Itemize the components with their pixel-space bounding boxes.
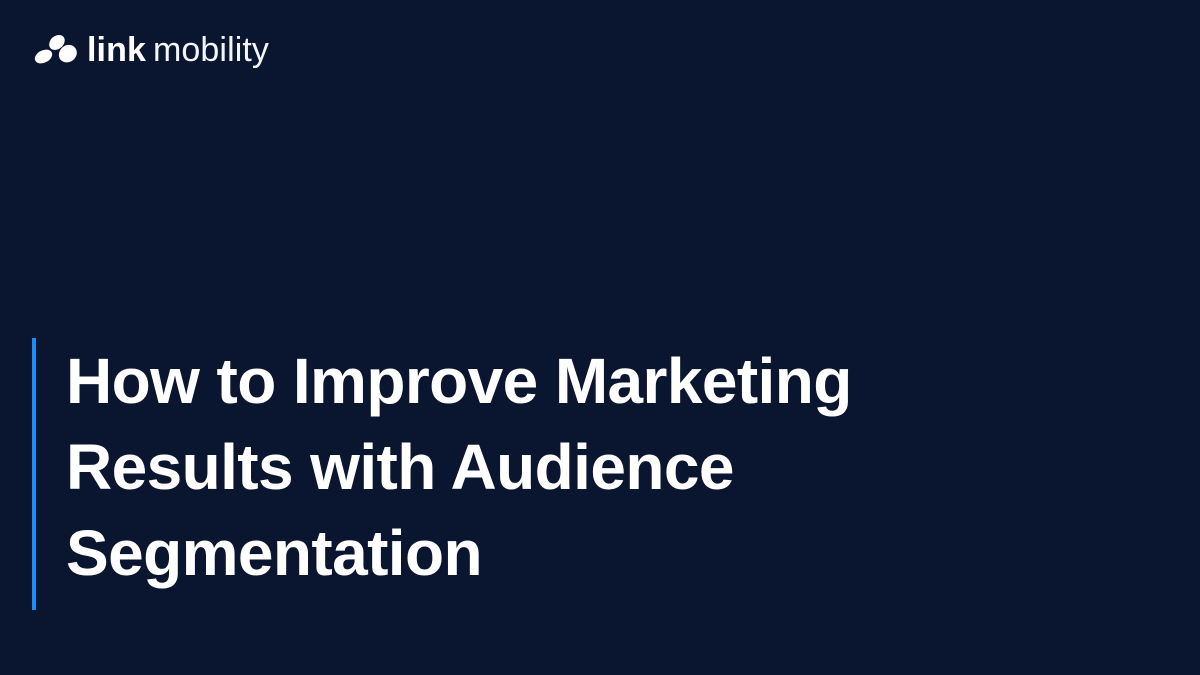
page-title: How to Improve Marketing Results with Au… bbox=[36, 338, 852, 610]
brand-word-mobility: mobility bbox=[153, 33, 269, 67]
link-mobility-blobs-icon bbox=[34, 32, 78, 68]
brand-word-link: link bbox=[87, 33, 146, 67]
headline-block: How to Improve Marketing Results with Au… bbox=[32, 338, 852, 610]
title-slide: link mobility How to Improve Marketing R… bbox=[0, 0, 1200, 675]
brand-logo: link mobility bbox=[34, 28, 269, 72]
page-title-line-1: How to Improve Marketing bbox=[66, 338, 852, 424]
page-title-line-3: Segmentation bbox=[66, 510, 852, 596]
page-title-line-2: Results with Audience bbox=[66, 424, 852, 510]
brand-wordmark: link mobility bbox=[87, 33, 269, 67]
